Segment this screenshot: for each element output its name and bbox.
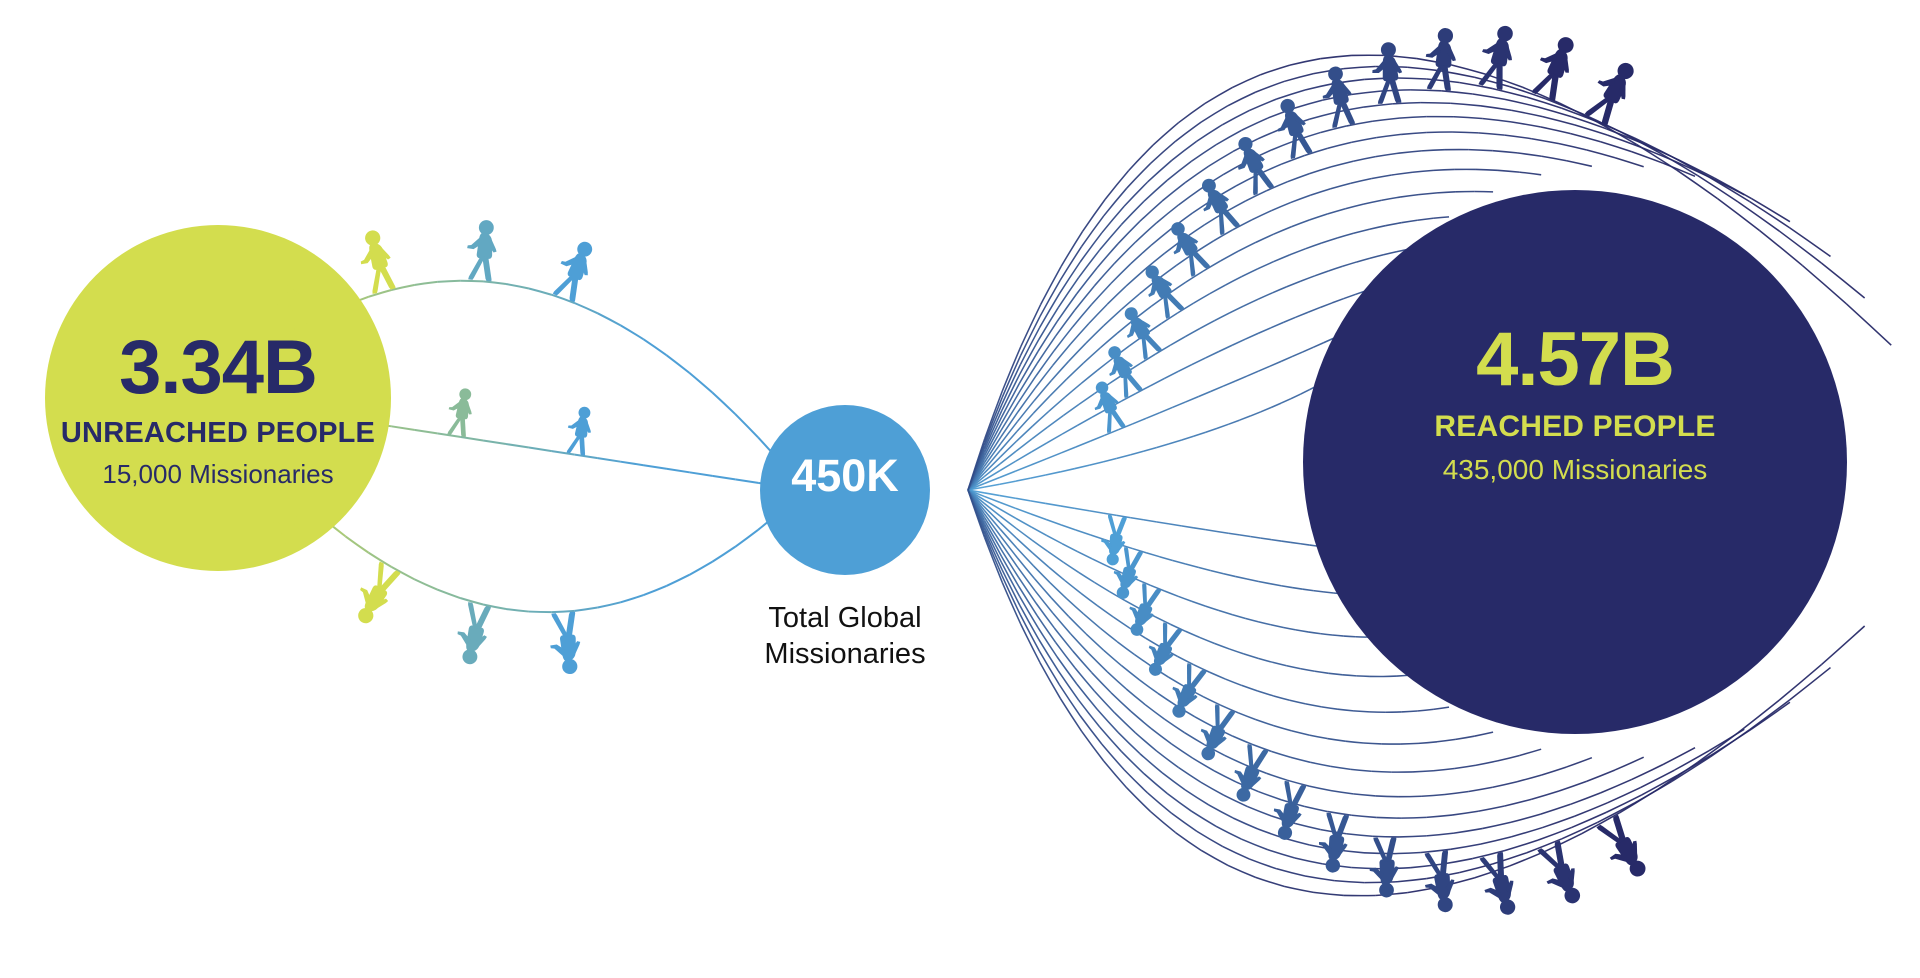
total-missionaries-caption: Total Global Missionaries	[740, 600, 950, 673]
total-missionaries-value: 450K	[760, 453, 930, 498]
reached-population-value: 4.57B	[1300, 322, 1850, 398]
infographic-canvas: 3.34B UNREACHED PEOPLE 15,000 Missionari…	[0, 0, 1920, 978]
unreached-category-label: UNREACHED PEOPLE	[45, 417, 391, 450]
caption-line-1: Total Global	[740, 600, 950, 636]
unreached-missionaries: 15,000 Missionaries	[45, 459, 391, 490]
caption-line-2: Missionaries	[740, 636, 950, 672]
reached-label-block: 4.57B REACHED PEOPLE 435,000 Missionarie…	[1300, 322, 1850, 486]
unreached-population-value: 3.34B	[45, 330, 391, 406]
unreached-label-block: 3.34B UNREACHED PEOPLE 15,000 Missionari…	[45, 330, 391, 490]
reached-missionaries: 435,000 Missionaries	[1300, 454, 1850, 486]
reached-category-label: REACHED PEOPLE	[1300, 410, 1850, 444]
